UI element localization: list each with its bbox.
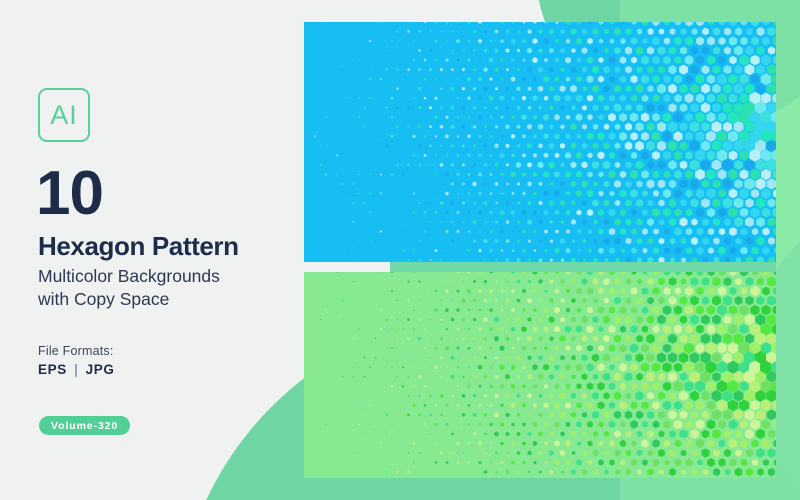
file-format-eps: EPS: [38, 362, 67, 377]
file-formats-values: EPS | JPG: [38, 362, 114, 377]
ai-format-icon-label: AI: [50, 102, 78, 129]
left-info-column: AI 10 Hexagon Pattern Multicolor Backgro…: [36, 0, 296, 500]
file-formats-label: File Formats:: [38, 344, 114, 358]
volume-badge: Volume-320: [39, 416, 130, 435]
green-hexagon-halftone: [304, 272, 776, 478]
blue-hexagon-halftone: [304, 22, 776, 262]
page-subtitle-line-1: Multicolor Backgrounds: [38, 265, 298, 288]
green-hexagon-preview: [304, 272, 776, 478]
file-format-separator: |: [71, 362, 81, 377]
page-title: Hexagon Pattern: [38, 233, 239, 259]
file-format-jpg: JPG: [86, 362, 115, 377]
ai-format-icon: AI: [38, 88, 90, 142]
blue-hexagon-preview: [304, 22, 776, 262]
poster-canvas: AI 10 Hexagon Pattern Multicolor Backgro…: [0, 0, 800, 500]
page-subtitle-line-2: with Copy Space: [38, 288, 298, 311]
panel-gap-accent-strip: [390, 262, 776, 272]
page-subtitle: Multicolor Backgrounds with Copy Space: [38, 265, 298, 311]
item-count: 10: [36, 163, 103, 225]
